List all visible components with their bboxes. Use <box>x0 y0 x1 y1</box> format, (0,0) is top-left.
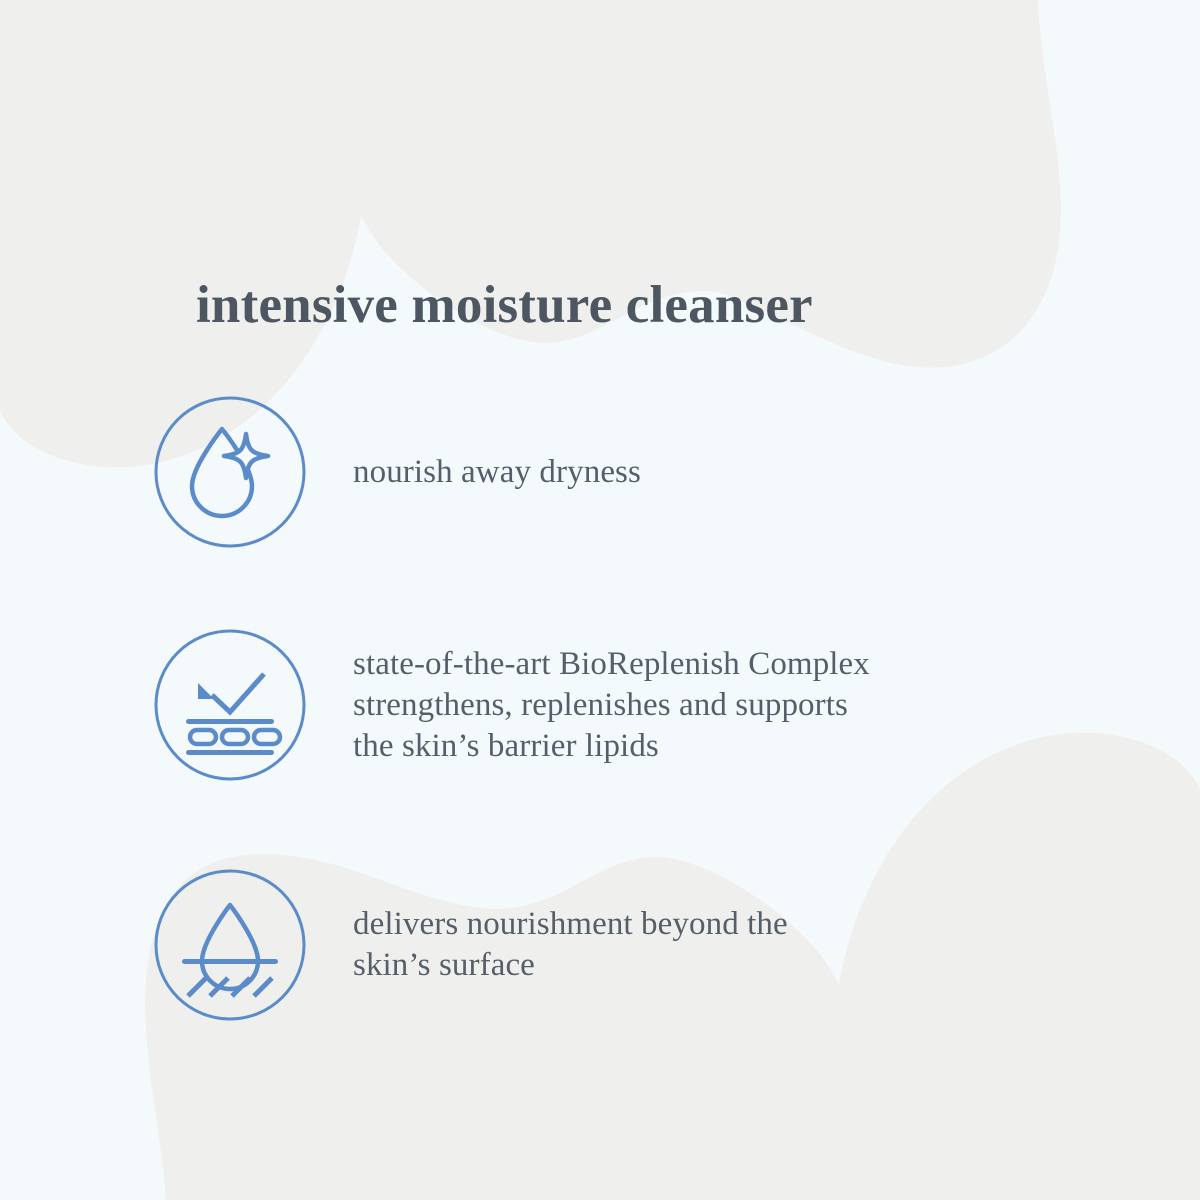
droplet-penetration-icon <box>152 867 308 1023</box>
skin-barrier-layers-icon <box>152 627 308 783</box>
feature-item: state-of-the-art BioReplenish Complex st… <box>152 627 1082 783</box>
feature-text-line: strengthens, replenishes and supports <box>353 685 1082 726</box>
feature-item: delivers nourishment beyond the skin’s s… <box>152 867 1082 1023</box>
feature-text-line: skin’s surface <box>353 945 1082 986</box>
product-benefits-card: intensive moisture cleanser nourish away… <box>0 0 1200 1200</box>
feature-text: state-of-the-art BioReplenish Complex st… <box>353 644 1082 767</box>
droplet-sparkle-icon <box>152 394 308 550</box>
feature-text-line: delivers nourishment beyond the <box>353 904 1082 945</box>
page-title: intensive moisture cleanser <box>196 276 1096 334</box>
feature-text-line: state-of-the-art BioReplenish Complex <box>353 644 1082 685</box>
feature-text: delivers nourishment beyond the skin’s s… <box>353 904 1082 986</box>
feature-text-line: nourish away dryness <box>353 452 1082 493</box>
feature-text-line: the skin’s barrier lipids <box>353 726 1082 767</box>
feature-text: nourish away dryness <box>353 452 1082 493</box>
feature-item: nourish away dryness <box>152 394 1082 550</box>
